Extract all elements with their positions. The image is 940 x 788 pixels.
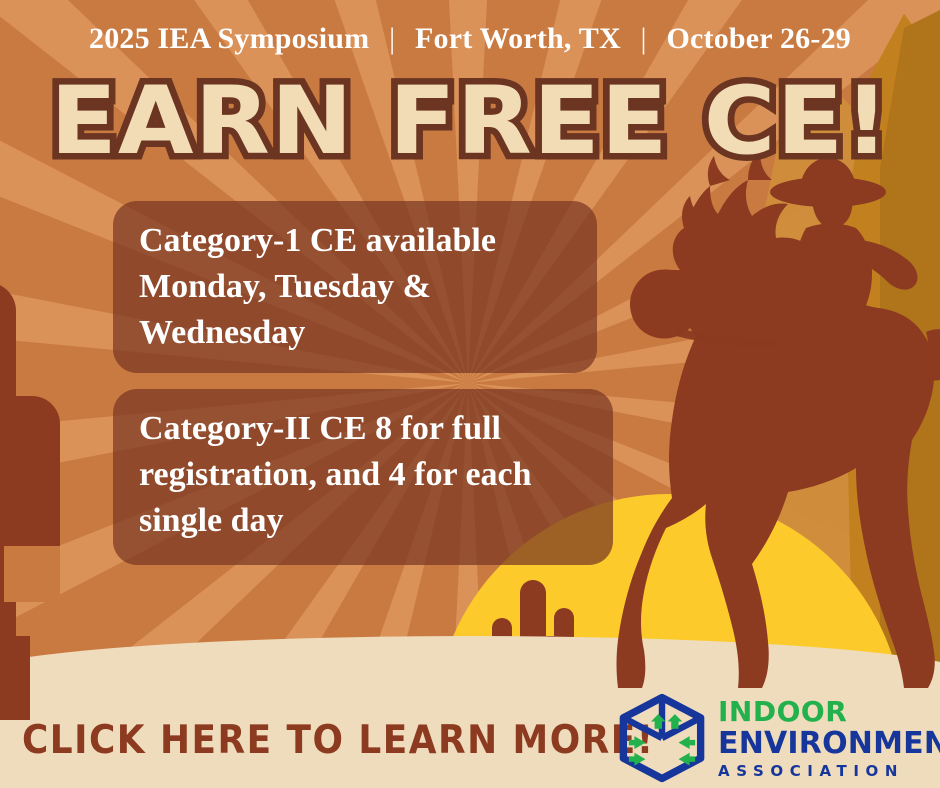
ground-accent-left <box>0 636 30 720</box>
cowboy-on-horse-silhouette <box>560 150 940 710</box>
logo-line-association: ASSOCIATION <box>718 764 940 779</box>
event-separator-1: | <box>389 22 395 56</box>
click-here-to-learn-more-button[interactable]: CLICK HERE TO LEARN MORE! <box>22 718 655 763</box>
event-dates: October 26-29 <box>666 22 851 55</box>
cube-arrows-icon <box>616 692 708 784</box>
iea-logo[interactable]: INDOOR ENVIRONMENTS ASSOCIATION <box>616 692 940 784</box>
logo-wordmark: INDOOR ENVIRONMENTS ASSOCIATION <box>718 698 940 779</box>
info-panel-category-1: Category-1 CE available Monday, Tuesday … <box>113 201 597 373</box>
event-line: 2025 IEA Symposium | Fort Worth, TX | Oc… <box>0 22 940 56</box>
event-separator-2: | <box>641 22 647 56</box>
page-title: EARN FREE CE! <box>0 70 940 174</box>
cactus-arm <box>4 396 60 602</box>
event-name: 2025 IEA Symposium <box>89 22 369 55</box>
logo-line-indoor: INDOOR <box>718 698 940 726</box>
logo-line-environments: ENVIRONMENTS <box>718 729 940 759</box>
info-panel-category-2: Category-II CE 8 for full registration, … <box>113 389 613 565</box>
event-location: Fort Worth, TX <box>415 22 621 55</box>
promo-banner[interactable]: 2025 IEA Symposium | Fort Worth, TX | Oc… <box>0 0 940 788</box>
